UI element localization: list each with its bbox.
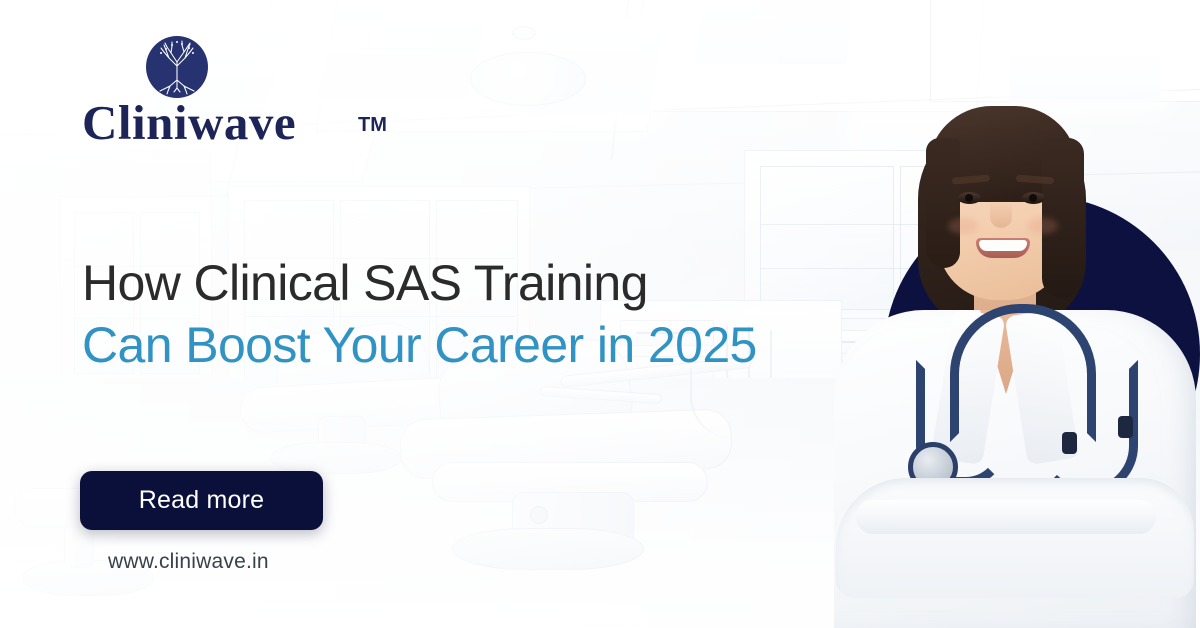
marketing-banner: Cliniwave TM How Clinical SAS Training C… — [0, 0, 1200, 628]
headline: How Clinical SAS Training Can Boost Your… — [82, 252, 757, 376]
brand-logo[interactable]: Cliniwave TM — [82, 36, 332, 148]
doctor-smile — [976, 238, 1030, 258]
trademark-symbol: TM — [358, 114, 387, 137]
headline-line-1: How Clinical SAS Training — [82, 252, 757, 314]
brand-wordmark: Cliniwave — [82, 98, 296, 147]
doctor-eye-left — [958, 192, 981, 204]
doctor-folded-arms — [836, 478, 1194, 598]
doctor-eye-right — [1022, 192, 1045, 204]
headline-line-2: Can Boost Your Career in 2025 — [82, 314, 757, 376]
website-url[interactable]: www.cliniwave.in — [108, 550, 269, 574]
doctor-photo-cutout — [830, 60, 1200, 628]
tree-with-roots-icon — [146, 36, 208, 98]
read-more-button[interactable]: Read more — [80, 471, 323, 530]
